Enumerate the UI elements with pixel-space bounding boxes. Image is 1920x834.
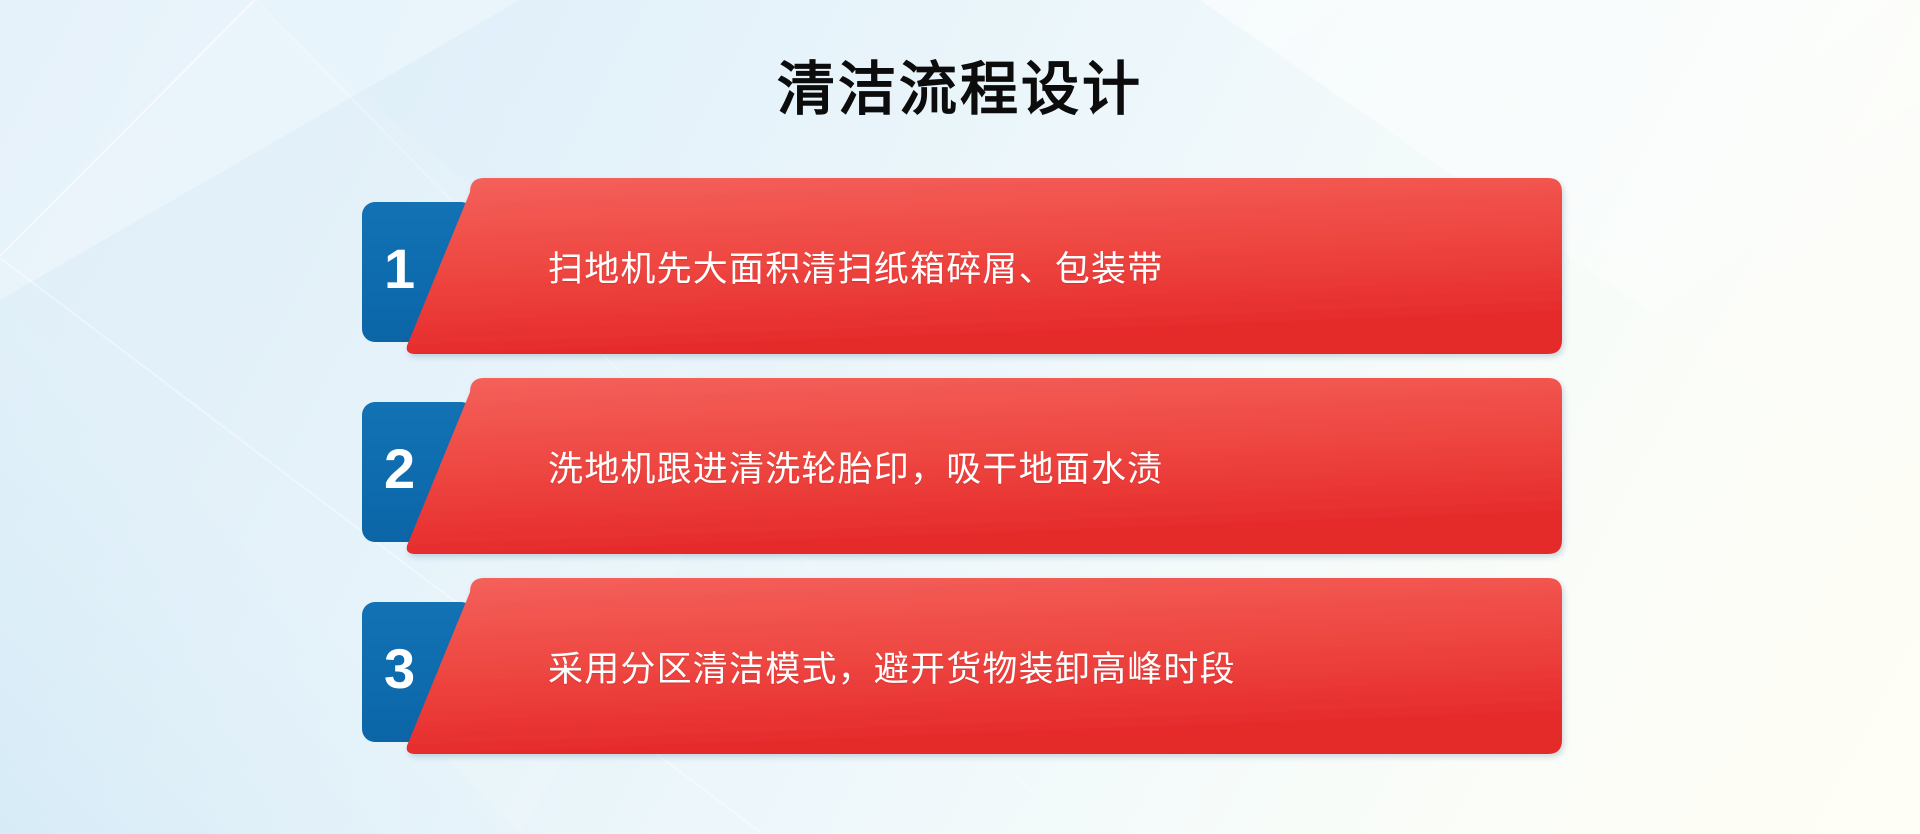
step-row-3[interactable]: 3 采用分区清洁模式 (362, 578, 1562, 754)
step-text-2: 洗地机跟进清洗轮胎印，吸干地面水渍 (548, 378, 1163, 554)
step-text-3: 采用分区清洁模式，避开货物装卸高峰时段 (548, 578, 1236, 754)
step-row-1[interactable]: 1 扫地机先大面积清 (362, 178, 1562, 354)
step-row-2[interactable]: 2 洗地机跟进清洗轮 (362, 378, 1562, 554)
slide-canvas: 清洁流程设计 1 (0, 0, 1920, 834)
step-text-1: 扫地机先大面积清扫纸箱碎屑、包装带 (548, 178, 1163, 354)
steps-list: 1 扫地机先大面积清 (0, 0, 1920, 834)
